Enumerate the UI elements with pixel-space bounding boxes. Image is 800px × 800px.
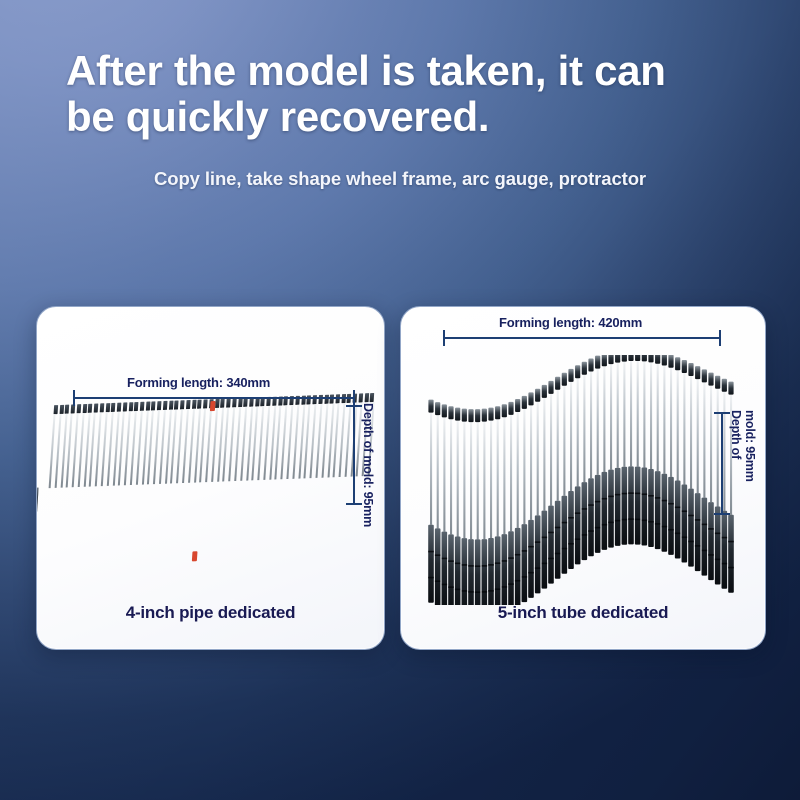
card-caption-5-inch: 5-inch tube dedicated [401,603,765,623]
depth-of-mold-label-line-1: Depth of [729,410,742,459]
forming-length-label: Forming length: 420mm [499,315,642,330]
wave-gauge-svg [419,355,749,605]
product-photo-flat-gauge [37,307,384,649]
depth-dimension-line [353,405,355,505]
gauge-red-marker-bottom [192,551,198,561]
headline: After the model is taken, it can be quic… [66,48,766,140]
contour-gauge-wave-illustration [419,355,749,605]
gauge-pin-rods [49,402,375,488]
depth-dimension-line [721,412,723,515]
product-card-5-inch[interactable]: Forming length: 420mm Depth of mold: 95m… [400,306,766,650]
product-photo-wave-gauge [401,307,765,649]
depth-of-mold-label: Depth of mold: 95mm [361,403,374,527]
forming-length-label: Forming length: 340mm [127,375,270,390]
card-caption-4-inch: 4-inch pipe dedicated [37,603,384,623]
headline-line-2: be quickly recovered. [66,94,766,140]
product-card-4-inch[interactable]: Forming length: 340mm Depth of mold: 95m… [36,306,385,650]
depth-of-mold-label-line-2: mold: 95mm [743,410,756,482]
product-poster: After the model is taken, it can be quic… [0,0,800,800]
gauge-block-band-4 [37,539,376,649]
forming-length-dimension-line [73,397,355,399]
contour-gauge-flat-illustration [43,393,375,575]
gauge-red-marker-top [210,401,216,411]
subtitle: Copy line, take shape wheel frame, arc g… [0,168,800,190]
headline-line-1: After the model is taken, it can [66,48,766,94]
forming-length-dimension-line [443,337,721,339]
